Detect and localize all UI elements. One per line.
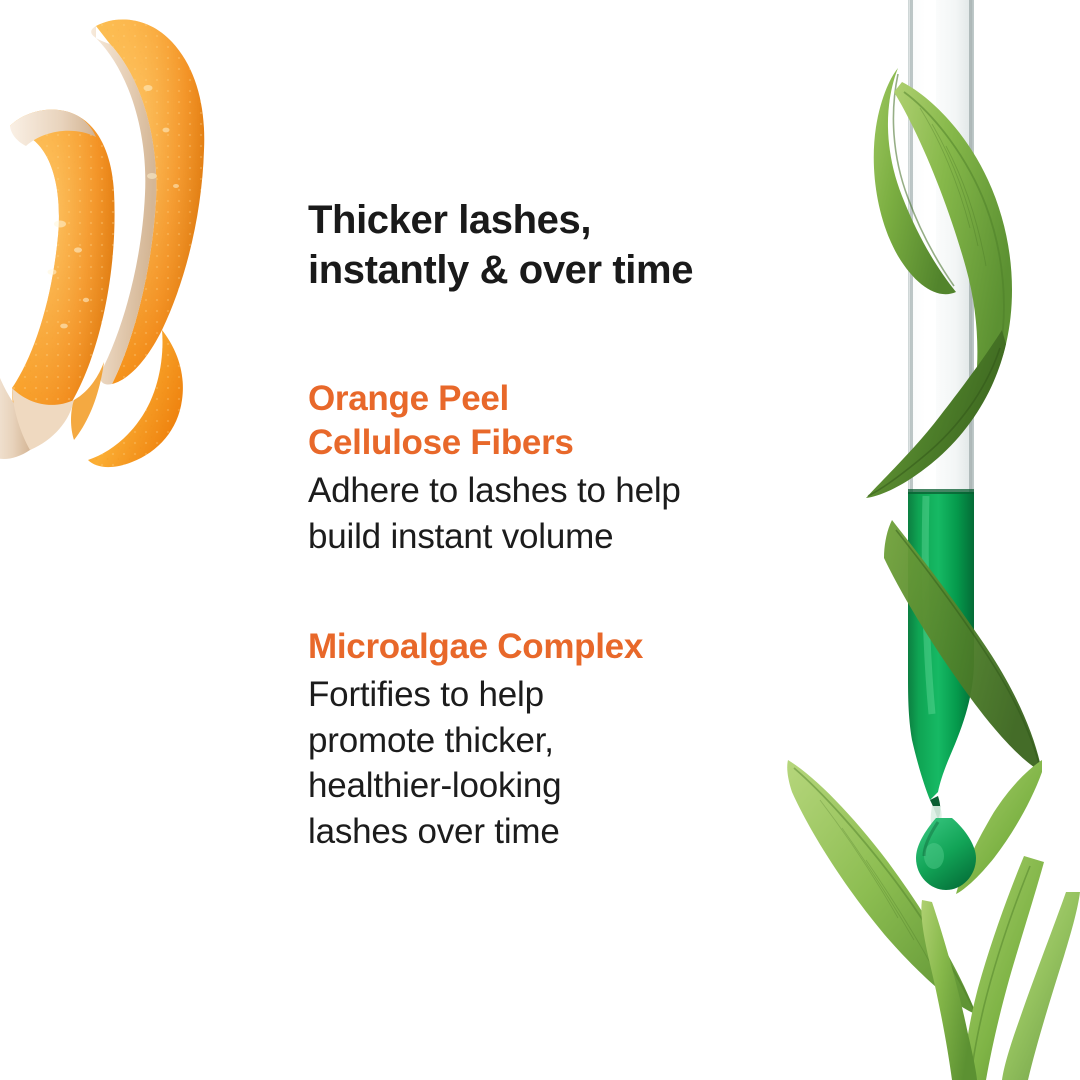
pipette-green-liquid [908,489,974,800]
orange-peel-image [0,0,290,510]
algae-leaf-front-sweep [894,82,1012,408]
ingredient-description-orange-peel: Adhere to lashes to help build instant v… [308,468,828,559]
green-droplet [916,796,976,890]
ingredient-title-orange-peel: Orange Peel Cellulose Fibers [308,377,828,465]
peel-highlights [48,85,180,328]
algae-leaf-tail-right [956,760,1042,894]
algae-leaf-cluster-bottom [787,760,1080,1080]
ingredient-block-microalgae: Microalgae Complex Fortifies to help pro… [308,625,828,854]
algae-leaf-lower-sweep [866,330,1006,498]
glass-pipette-tube [908,0,974,500]
algae-leaf-over-liquid [884,520,1042,772]
page-title: Thicker lashes, instantly & over time [308,196,828,295]
ingredient-description-microalgae: Fortifies to help promote thicker, healt… [308,672,828,854]
peel-front-arm [10,110,115,450]
promo-graphic: Thicker lashes, instantly & over time Or… [0,0,1080,1080]
peel-bottom-curl [0,362,104,459]
copy-column: Thicker lashes, instantly & over time Or… [308,196,828,854]
ingredient-block-orange-peel: Orange Peel Cellulose Fibers Adhere to l… [308,377,828,559]
ingredient-title-microalgae: Microalgae Complex [308,625,828,669]
algae-leaf-spiral-upper [874,68,956,294]
peel-upper-arm [91,19,204,384]
peel-lower-tail [88,330,183,467]
